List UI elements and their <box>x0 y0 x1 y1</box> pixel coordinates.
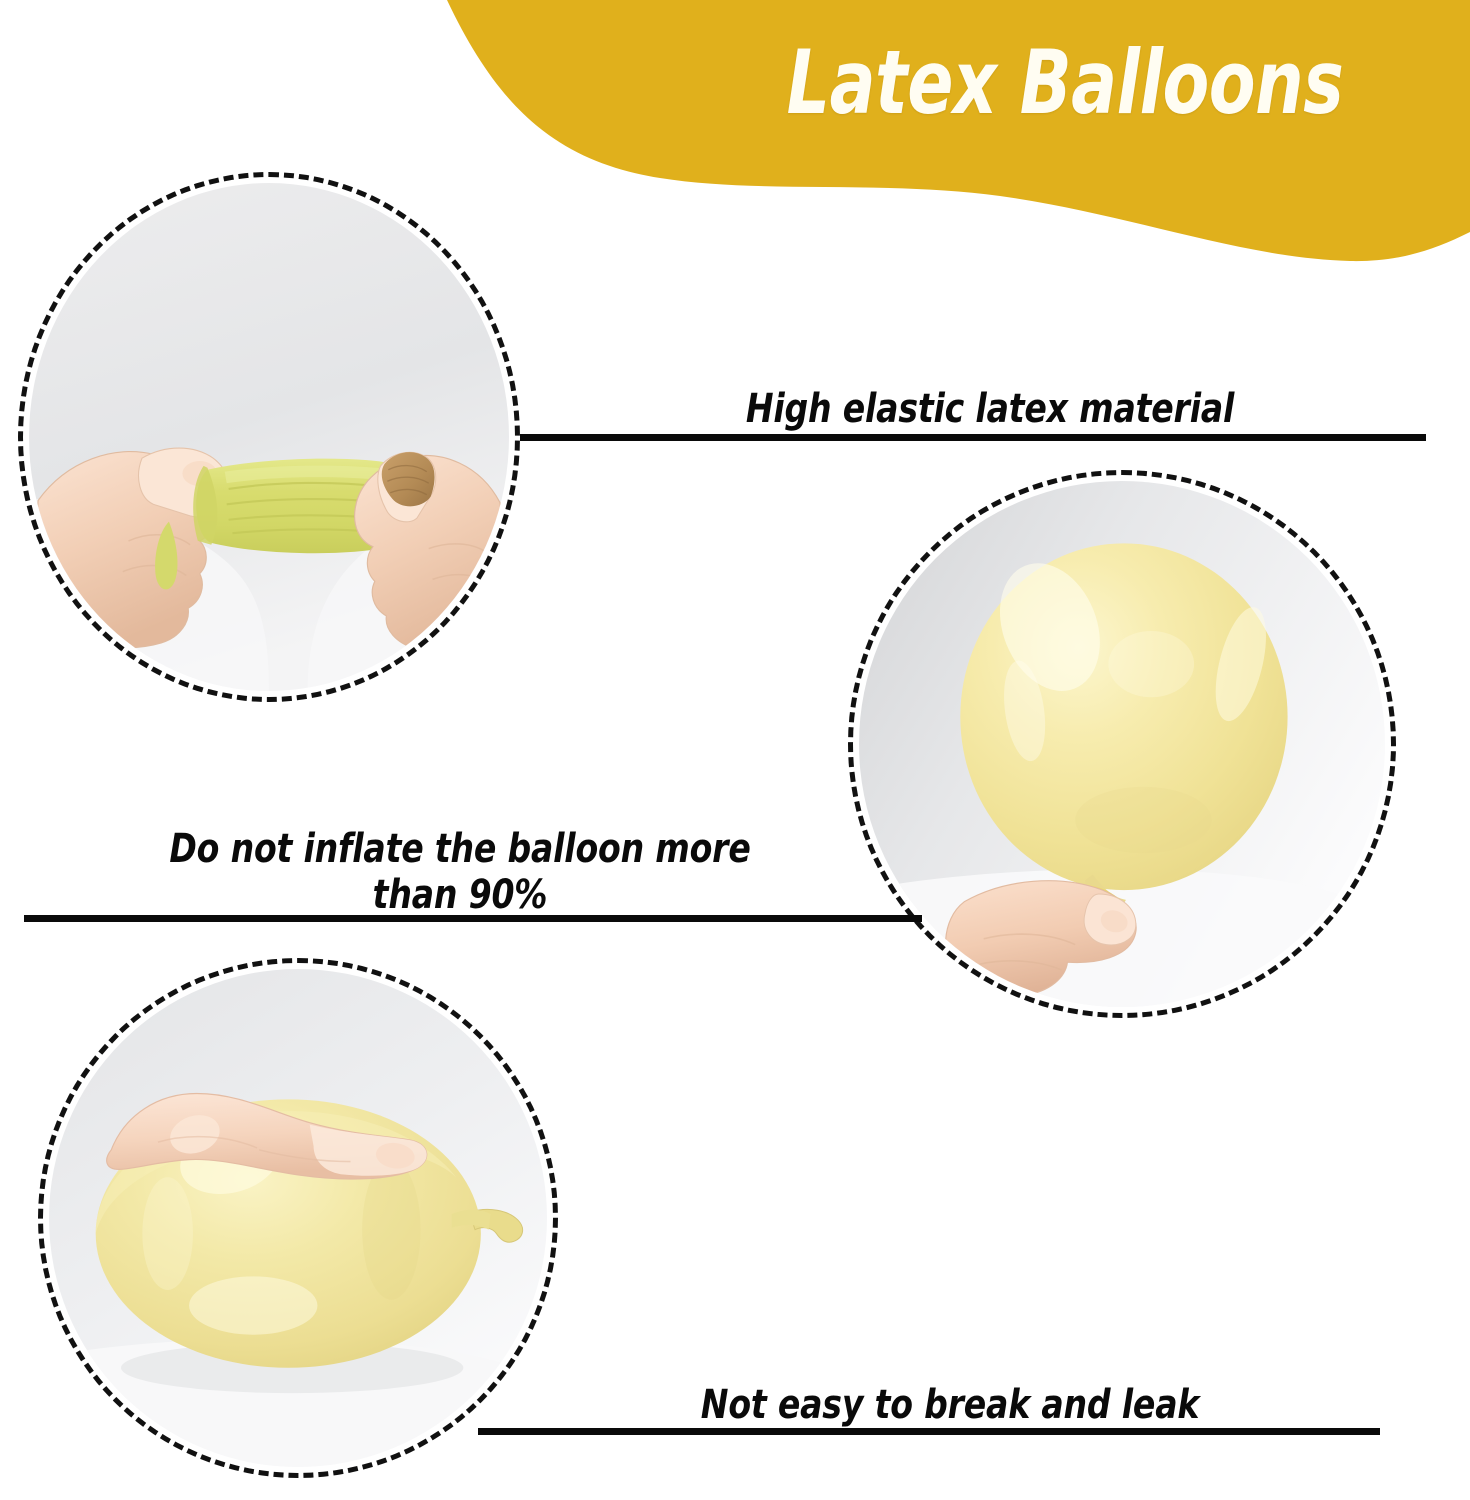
stretching-balloon-illustration <box>29 183 509 691</box>
feature-rule-durable <box>478 1428 1380 1435</box>
infographic-page: Latex Balloons <box>0 0 1470 1500</box>
page-title: Latex Balloons <box>751 36 1379 129</box>
feature-photo-durable <box>38 958 558 1478</box>
photo-clip-inflate-limit <box>859 481 1385 1007</box>
inflated-balloon-illustration <box>859 481 1385 1007</box>
feature-photo-elastic <box>18 172 520 702</box>
feature-rule-elastic <box>520 434 1426 441</box>
pressed-balloon-illustration <box>49 969 547 1467</box>
feature-caption-inflate-limit: Do not inflate the balloon more than 90% <box>74 826 847 919</box>
feature-photo-inflate-limit <box>848 470 1396 1018</box>
feature-caption-durable: Not easy to break and leak <box>554 1382 1345 1428</box>
photo-clip-durable <box>49 969 547 1467</box>
feature-caption-elastic: High elastic latex material <box>594 386 1385 432</box>
photo-clip-elastic <box>29 183 509 691</box>
feature-rule-inflate-limit <box>24 915 922 922</box>
